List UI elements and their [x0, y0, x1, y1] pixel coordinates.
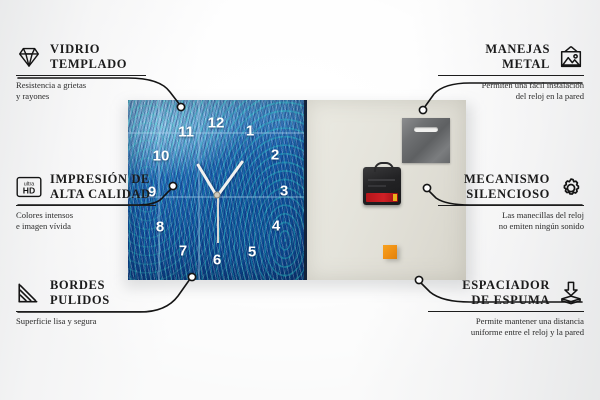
gear-icon — [558, 174, 584, 200]
product-image: 12 1 2 3 4 5 6 7 8 9 10 11 — [128, 100, 466, 280]
callout-description: Las manecillas del reloj no emiten ningú… — [438, 210, 584, 233]
svg-text:HD: HD — [23, 185, 35, 195]
clock-numeral-1: 1 — [246, 124, 254, 139]
movement-hook — [374, 162, 394, 172]
clock-hand-second — [217, 195, 219, 243]
callout-description: Permite mantener una distancia uniforme … — [428, 316, 584, 339]
pattern-gridline — [198, 100, 200, 280]
callout-description: Superficie lisa y segura — [16, 316, 148, 327]
movement-detail — [368, 179, 395, 181]
callout-rule — [16, 311, 148, 312]
callout-rule — [438, 75, 584, 76]
callout-title: MECANISMOSILENCIOSO — [464, 172, 550, 202]
callout-rule — [16, 205, 156, 206]
callout-description: Permiten una fácil instalación del reloj… — [438, 80, 584, 103]
wall-hanging-frame-icon — [558, 44, 584, 70]
foam-spacer — [383, 245, 397, 259]
metal-hanger-plate — [402, 118, 450, 163]
clock-numeral-7: 7 — [179, 244, 187, 259]
callout-rule — [16, 75, 146, 76]
quartz-movement — [363, 167, 401, 205]
clock-numeral-10: 10 — [153, 149, 170, 164]
callout-vidrio-templado: VIDRIOTEMPLADO Resistencia a grietas y r… — [16, 42, 146, 103]
clock-numeral-6: 6 — [213, 253, 221, 268]
clock-numeral-2: 2 — [271, 148, 279, 163]
clock-numeral-4: 4 — [272, 219, 280, 234]
infographic-canvas: 12 1 2 3 4 5 6 7 8 9 10 11 — [0, 0, 600, 400]
callout-rule — [438, 205, 584, 206]
callout-manejas-metal: MANEJASMETAL Permiten una fácil instalac… — [438, 42, 584, 103]
callout-espaciador-de-espuma: ESPACIADORDE ESPUMA Permite mantener una… — [428, 278, 584, 339]
diamond-icon — [16, 44, 42, 70]
clock-numeral-11: 11 — [178, 125, 194, 140]
polished-edges-icon — [16, 280, 42, 306]
movement-detail — [368, 185, 386, 187]
foam-spacer-arrow-icon — [558, 280, 584, 306]
pattern-gridline — [158, 100, 160, 280]
pattern-gridline — [128, 132, 304, 134]
callout-impresion-alta-calidad: ultra HD IMPRESIÓN DEALTA CALIDAD Colore… — [16, 172, 156, 233]
callout-title: IMPRESIÓN DEALTA CALIDAD — [50, 172, 151, 202]
callout-mecanismo-silencioso: MECANISMOSILENCIOSO Las manecillas del r… — [438, 172, 584, 233]
callout-title: BORDESPULIDOS — [50, 278, 110, 308]
callout-description: Resistencia a grietas y rayones — [16, 80, 146, 103]
clock-numeral-8: 8 — [156, 220, 164, 235]
battery — [366, 193, 398, 202]
callout-title: MANEJASMETAL — [485, 42, 550, 72]
callout-description: Colores intensos e imagen vívida — [16, 210, 156, 233]
callout-title: VIDRIOTEMPLADO — [50, 42, 127, 72]
callout-rule — [428, 311, 584, 312]
callout-title: ESPACIADORDE ESPUMA — [462, 278, 550, 308]
callout-bordes-pulidos: BORDESPULIDOS Superficie lisa y segura — [16, 278, 148, 327]
clock-numeral-5: 5 — [248, 245, 256, 260]
clock-center-pin — [214, 192, 221, 199]
clock-numeral-3: 3 — [280, 184, 288, 199]
ultra-hd-icon: ultra HD — [16, 174, 42, 200]
clock-numeral-12: 12 — [208, 116, 225, 131]
hanger-slot — [414, 127, 438, 132]
